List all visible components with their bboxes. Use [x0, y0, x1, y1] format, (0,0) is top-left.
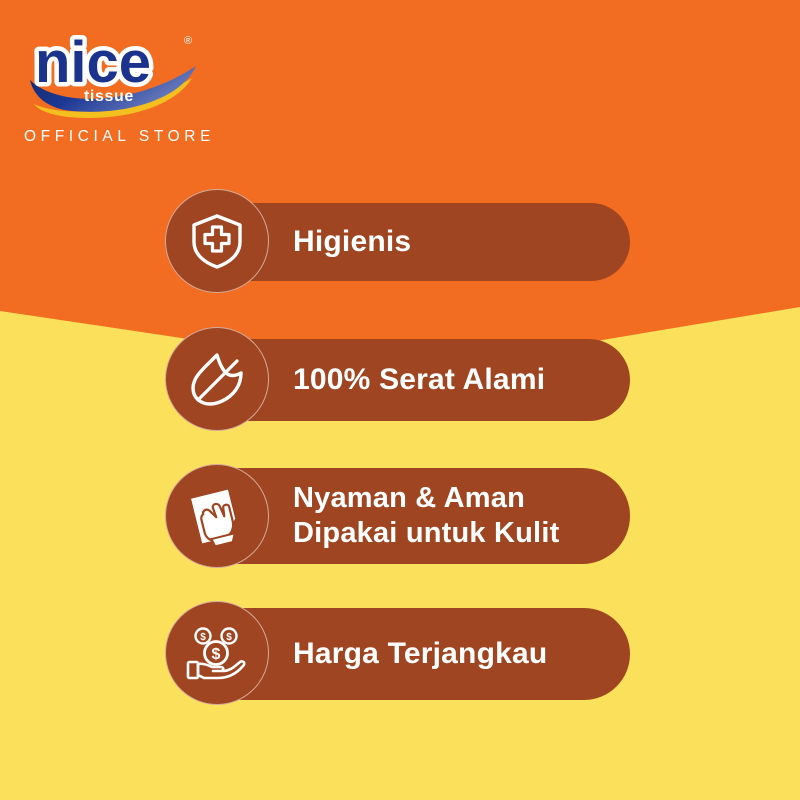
brand-block: nice nice ® tissue OFFICIAL STORE [24, 22, 284, 146]
logo-wordmark: nice [35, 30, 151, 95]
feature-label-harga-terjangkau: Harga Terjangkau [293, 637, 547, 672]
hand-with-coins-icon: $ $ $ [165, 601, 269, 705]
logo-subwordmark: tissue [84, 88, 134, 105]
svg-text:$: $ [212, 646, 221, 663]
svg-text:$: $ [226, 632, 232, 643]
hand-wiping-tissue-icon [165, 464, 269, 568]
feature-pill-higienis[interactable]: Higienis [175, 203, 630, 281]
svg-text:$: $ [200, 632, 206, 643]
nice-tissue-logo: nice nice ® tissue [24, 22, 214, 114]
nice-logo-graphic: nice nice ® tissue [24, 22, 214, 118]
promo-poster: nice nice ® tissue OFFICIAL STORE Higien… [0, 0, 800, 800]
logo-trademark-icon: ® [184, 35, 192, 47]
shield-cross-icon [165, 189, 269, 293]
feature-pill-serat-alami[interactable]: 100% Serat Alami [175, 339, 630, 421]
feature-pill-harga-terjangkau[interactable]: $ $ $ Harga Terjangkau [175, 608, 630, 700]
feature-label-nyaman-aman: Nyaman & Aman Dipakai untuk Kulit [293, 481, 559, 552]
leaf-icon [165, 327, 269, 431]
feature-label-higienis: Higienis [293, 225, 411, 260]
feature-pill-nyaman-aman[interactable]: Nyaman & Aman Dipakai untuk Kulit [175, 468, 630, 564]
feature-label-serat-alami: 100% Serat Alami [293, 363, 545, 398]
official-store-label: OFFICIAL STORE [24, 128, 284, 146]
